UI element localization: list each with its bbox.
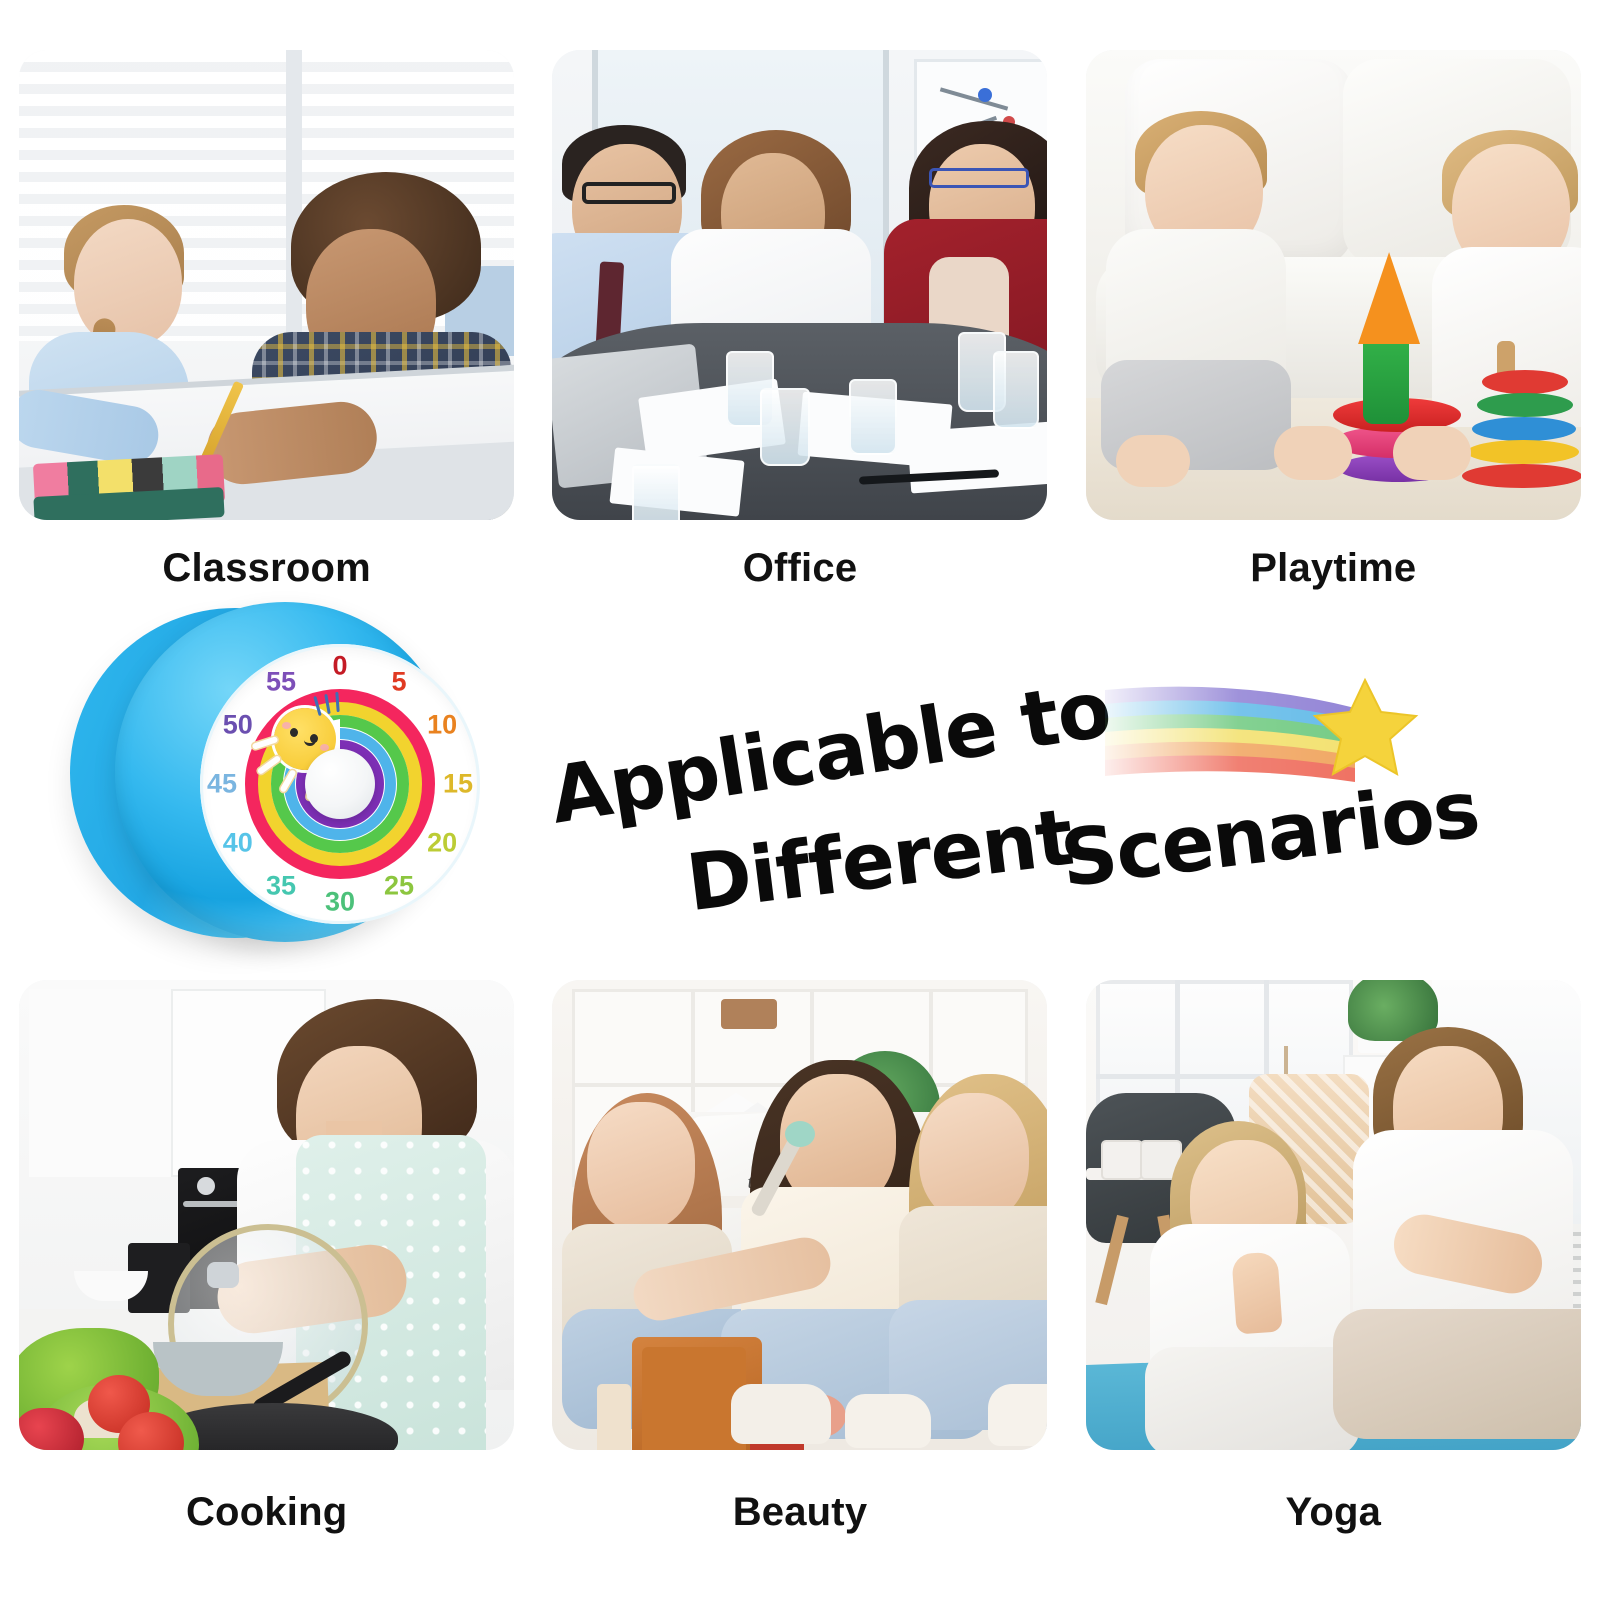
makeup-brush-tip <box>785 1121 815 1147</box>
woman-pants <box>1333 1309 1581 1439</box>
photo-beauty: this is our happy place <box>552 980 1047 1450</box>
scenario-label-beauty: Beauty <box>733 1490 868 1535</box>
product-feature-page: Classroom <box>0 0 1600 1600</box>
timer-dial: 0510152025303540455055 <box>200 644 480 924</box>
woman-left-head <box>587 1102 695 1230</box>
dial-number-50: 50 <box>223 712 253 739</box>
dial-number-0: 0 <box>332 653 347 680</box>
scenario-row-top: Classroom <box>0 50 1600 591</box>
mug-1 <box>1101 1140 1143 1180</box>
timer-bezel: 0510152025303540455055 <box>115 602 455 942</box>
dial-number-40: 40 <box>223 830 253 857</box>
scenario-label-yoga: Yoga <box>1286 1490 1382 1535</box>
photo-cooking <box>19 980 514 1450</box>
dial-number-25: 25 <box>384 873 414 900</box>
girl-pants <box>1145 1347 1360 1450</box>
scenario-cell-office[interactable]: Office <box>533 50 1066 591</box>
dial-number-35: 35 <box>266 873 296 900</box>
photo-office <box>552 50 1047 520</box>
dial-number-20: 20 <box>427 830 457 857</box>
paper-3 <box>907 420 1048 493</box>
water-glass-3 <box>849 379 897 455</box>
ring-tower-yellow <box>1467 440 1579 464</box>
ring-tower-blue <box>1472 417 1576 441</box>
sneaker-1 <box>731 1384 831 1444</box>
foundation-bottle <box>597 1384 631 1450</box>
rainbow-shooting-star-icon <box>1085 650 1425 820</box>
scenario-cell-beauty[interactable]: this is our happy place <box>533 980 1066 1535</box>
ring-tower-red-base <box>1462 464 1581 488</box>
headline-line-2: Different <box>682 793 1078 930</box>
toddler-foot-2 <box>1274 426 1352 480</box>
scenario-cell-classroom[interactable]: Classroom <box>0 50 533 591</box>
sun-cheek-left <box>282 722 291 729</box>
lid-knob <box>207 1262 239 1288</box>
cabinet-door <box>29 989 173 1177</box>
dial-number-55: 55 <box>266 668 296 695</box>
sneaker-3 <box>988 1384 1047 1446</box>
sun-eye-left <box>290 728 298 737</box>
dial-number-10: 10 <box>427 712 457 739</box>
water-glass-2 <box>760 388 810 466</box>
mirror-face <box>642 1347 746 1450</box>
dial-number-30: 30 <box>325 889 355 916</box>
toddler-foot-1 <box>1116 435 1190 487</box>
whiteboard-dot-blue <box>978 88 992 102</box>
ring-tower-red-top <box>1482 370 1568 394</box>
photo-classroom <box>19 50 514 520</box>
woman-right-glasses <box>929 168 1029 188</box>
scenario-label-playtime: Playtime <box>1250 546 1416 591</box>
girl-prayer-hands <box>1232 1251 1283 1334</box>
scenario-label-office: Office <box>743 546 858 591</box>
wooden-box <box>721 999 777 1029</box>
sun-mouth <box>304 736 316 746</box>
scenario-label-classroom: Classroom <box>162 546 371 591</box>
water-glass-6 <box>632 464 680 520</box>
sneaker-2 <box>845 1394 931 1448</box>
toddler-foot-3 <box>1393 426 1471 480</box>
photo-yoga <box>1086 980 1581 1450</box>
dial-number-15: 15 <box>443 771 473 798</box>
scenario-row-bottom: Cooking this is our <box>0 980 1600 1535</box>
timer-dial-face: 0510152025303540455055 <box>200 644 480 924</box>
stacking-toy-green-stem <box>1363 332 1409 424</box>
dial-number-5: 5 <box>391 668 406 695</box>
scenario-label-cooking: Cooking <box>186 1490 347 1535</box>
scenario-cell-yoga[interactable]: Yoga <box>1067 980 1600 1535</box>
ring-tower-green <box>1477 393 1573 417</box>
timer-center-knob[interactable] <box>305 749 375 819</box>
scenario-cell-cooking[interactable]: Cooking <box>0 980 533 1535</box>
man-glasses <box>582 182 676 204</box>
scenario-cell-playtime[interactable]: Playtime <box>1067 50 1600 591</box>
girl-head <box>74 219 182 347</box>
water-glass-5 <box>993 351 1039 429</box>
visual-timer-product[interactable]: 0510152025303540455055 <box>60 590 460 970</box>
window-frame <box>286 50 302 341</box>
woman-right-head <box>919 1093 1029 1223</box>
photo-playtime <box>1086 50 1581 520</box>
dial-number-45: 45 <box>207 771 237 798</box>
